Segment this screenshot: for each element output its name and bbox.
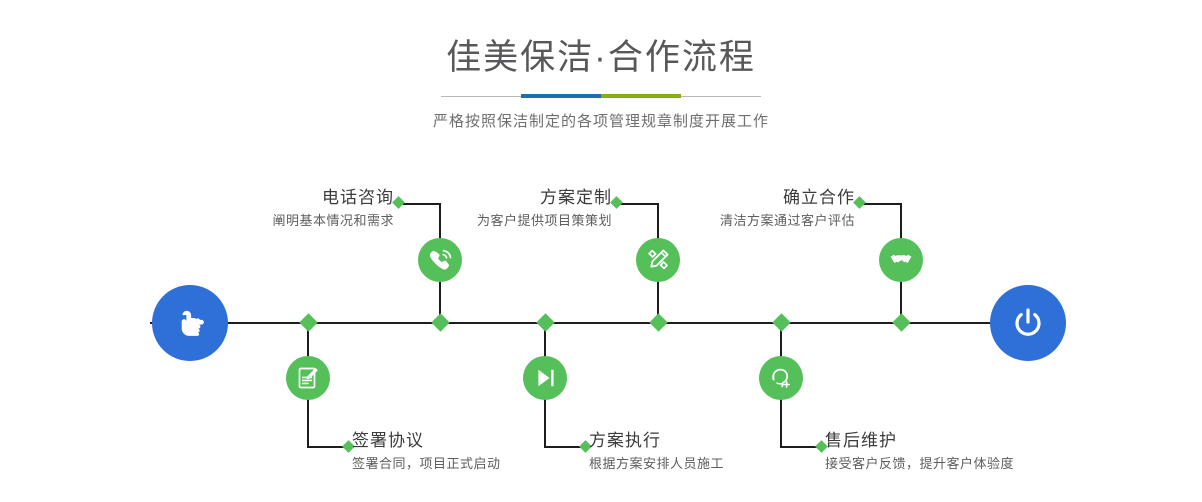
step-desc-1: 阐明基本情况和需求 [150,210,394,232]
timeline: 电话咨询 阐明基本情况和需求 签署协议 签署合同，项目正式启动 [0,0,1202,502]
step-label-5: 确立合作 清洁方案通过客户评估 [613,186,855,232]
axis-diamond-step-2 [299,313,317,331]
axis-diamond-step-1 [431,313,449,331]
step-node-3[interactable] [636,238,680,282]
timeline-axis [150,322,1052,324]
step-desc-3: 为客户提供项目策策划 [370,210,612,232]
handshake-icon [888,247,914,273]
pointing-hand-icon [171,304,209,342]
axis-diamond-step-6 [772,313,790,331]
label-diamond-step-5 [853,196,866,209]
step-node-1[interactable] [418,238,462,282]
power-button-icon [1008,303,1048,343]
step-label-3: 方案定制 为客户提供项目策策划 [370,186,612,232]
step-node-6[interactable] [759,356,803,400]
step-title-5: 确立合作 [613,186,855,210]
play-forward-icon [532,365,558,391]
document-edit-icon [295,365,321,391]
step-title-6: 售后维护 [825,429,1155,453]
axis-diamond-step-5 [892,313,910,331]
step-label-6: 售后维护 接受客户反馈，提升客户体验度 [825,429,1155,475]
timeline-start-node[interactable] [152,285,228,361]
step-desc-5: 清洁方案通过客户评估 [613,210,855,232]
step-label-1: 电话咨询 阐明基本情况和需求 [150,186,394,232]
step-node-5[interactable] [879,238,923,282]
process-flow-infographic: 佳美保洁·合作流程 严格按照保洁制定的各项管理规章制度开展工作 [0,0,1202,502]
connector-horizontal-step-5 [861,203,902,205]
step-node-4[interactable] [523,356,567,400]
timeline-end-node[interactable] [990,285,1066,361]
axis-diamond-step-4 [536,313,554,331]
headset-support-icon [768,365,794,391]
step-title-1: 电话咨询 [150,186,394,210]
step-desc-6: 接受客户反馈，提升客户体验度 [825,453,1155,475]
step-title-3: 方案定制 [370,186,612,210]
axis-diamond-step-3 [649,313,667,331]
step-node-2[interactable] [286,356,330,400]
phone-call-icon [427,247,453,273]
pencil-ruler-icon [645,247,671,273]
